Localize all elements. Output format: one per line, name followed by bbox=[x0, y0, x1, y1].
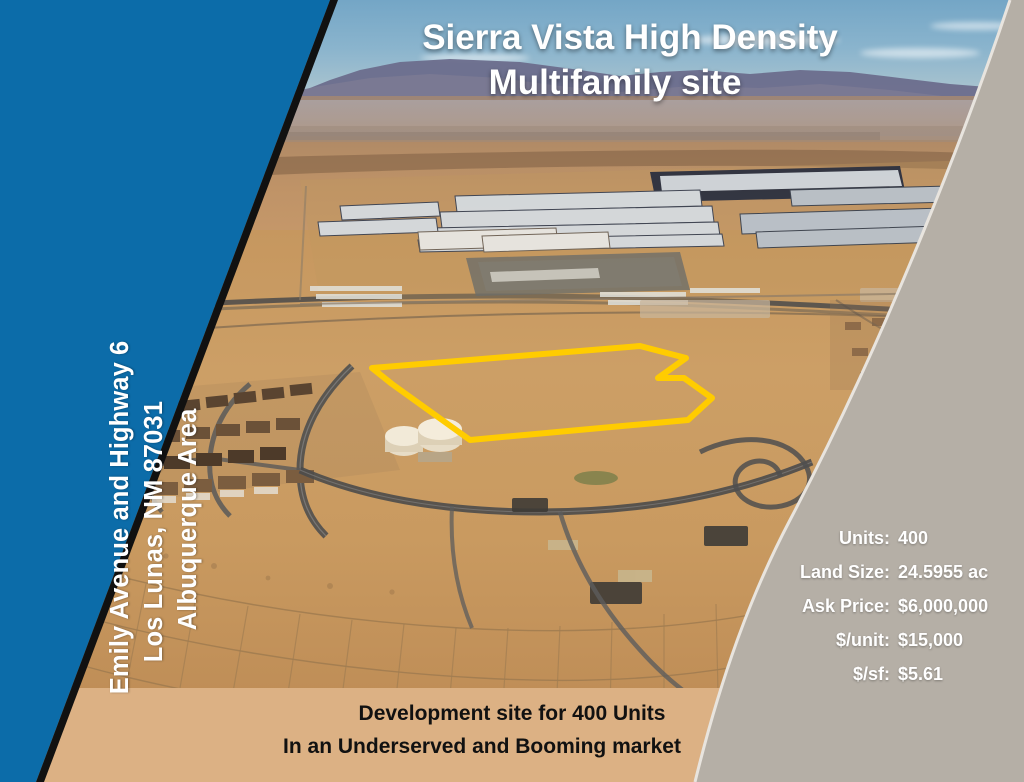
stat-value: $6,000,000 bbox=[890, 596, 1008, 617]
marketing-flyer: Sierra Vista High Density Multifamily si… bbox=[0, 0, 1024, 782]
stat-label: $/sf: bbox=[853, 664, 890, 685]
stats-list: Units: 400 Land Size: 24.5955 ac Ask Pri… bbox=[800, 528, 1008, 698]
stat-row-price-per-sf: $/sf: $5.61 bbox=[800, 664, 1008, 685]
stat-row-price-per-unit: $/unit: $15,000 bbox=[800, 630, 1008, 651]
stat-label: Ask Price: bbox=[802, 596, 890, 617]
stat-value: $5.61 bbox=[890, 664, 1008, 685]
stat-row-land-size: Land Size: 24.5955 ac bbox=[800, 562, 1008, 583]
stat-value: 400 bbox=[890, 528, 1008, 549]
stat-label: $/unit: bbox=[836, 630, 890, 651]
stat-label: Units: bbox=[839, 528, 890, 549]
stat-row-units: Units: 400 bbox=[800, 528, 1008, 549]
stat-value: 24.5955 ac bbox=[890, 562, 1008, 583]
stat-label: Land Size: bbox=[800, 562, 890, 583]
stat-row-ask-price: Ask Price: $6,000,000 bbox=[800, 596, 1008, 617]
stat-value: $15,000 bbox=[890, 630, 1008, 651]
